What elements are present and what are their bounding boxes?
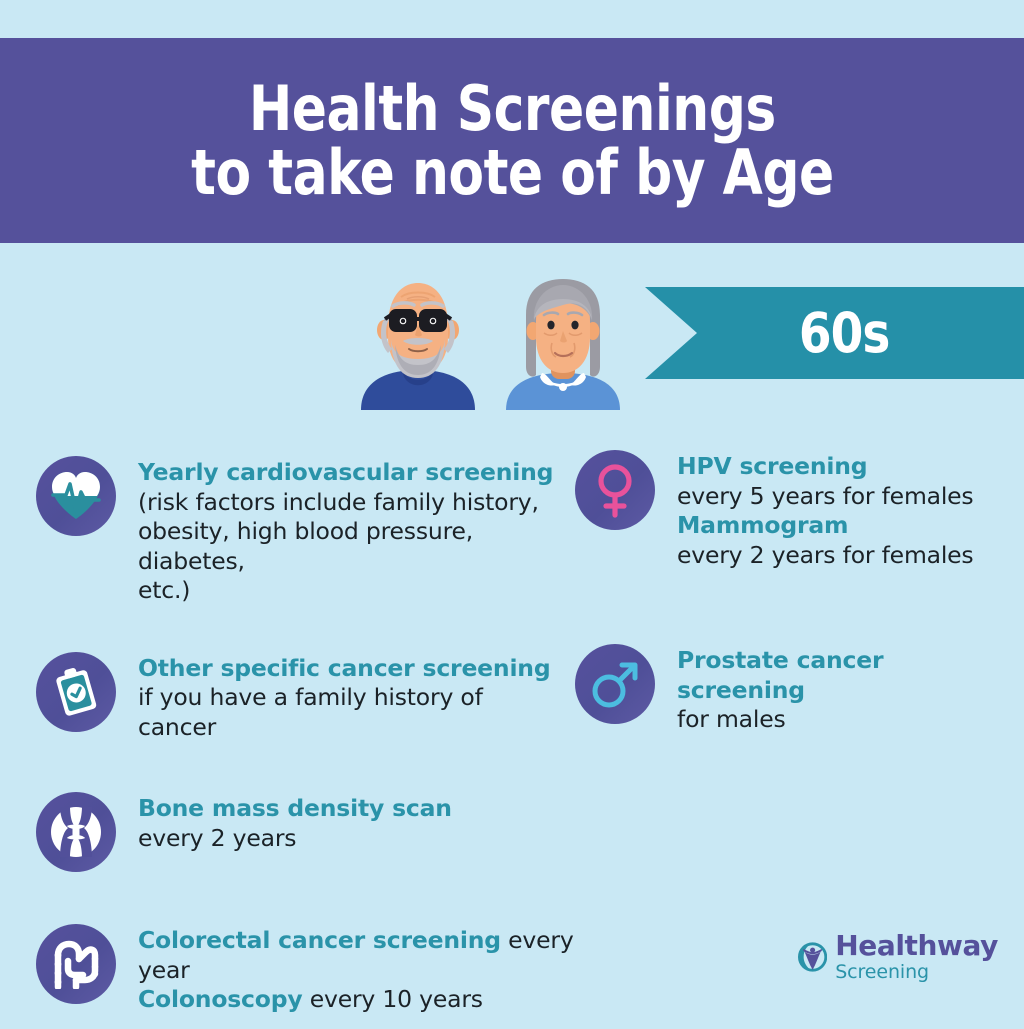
intestine-icon [36, 924, 116, 1004]
logo-subtitle: Screening [835, 963, 998, 982]
text-line: obesity, high blood pressure, diabetes, [138, 517, 576, 576]
list-item: Colorectal cancer screening every year C… [36, 924, 576, 1015]
bone-icon [36, 792, 116, 872]
text-line: Colorectal cancer screening every year [138, 926, 576, 985]
item-text: Yearly cardiovascular screening (risk fa… [116, 456, 576, 606]
text-line: Mammogram [677, 511, 1015, 541]
text-line: every 2 years for females [677, 541, 1015, 571]
text-line: etc.) [138, 576, 576, 606]
heading-text: Colonoscopy [138, 985, 302, 1013]
item-text: Colorectal cancer screening every year C… [116, 924, 576, 1015]
avatar-group [333, 275, 633, 410]
age-group-row: 60s [0, 275, 1024, 410]
text-line: Other specific cancer screening [138, 654, 576, 684]
text-line: Yearly cardiovascular screening [138, 458, 576, 488]
page-title-line-2: to take note of by Age [191, 141, 834, 204]
elderly-man-avatar [343, 275, 493, 410]
item-icon-wrapper [36, 792, 116, 872]
text-line: cancer [138, 713, 576, 743]
list-item: Bone mass density scan every 2 years [36, 792, 576, 872]
list-item: HPV screening every 5 years for females … [575, 450, 1015, 570]
heading-text: Colorectal cancer screening [138, 926, 501, 954]
text-line: every 5 years for females [677, 482, 1015, 512]
item-icon-wrapper [575, 450, 655, 530]
item-icon-wrapper [36, 652, 116, 732]
logo-text: Healthway Screening [827, 932, 998, 982]
text-line: (risk factors include family history, [138, 488, 576, 518]
header-banner: Health Screenings to take note of by Age [0, 38, 1024, 243]
healthway-person-shield-icon [798, 926, 827, 988]
text-line: Bone mass density scan [138, 794, 576, 824]
list-item: Other specific cancer screening if you h… [36, 652, 576, 743]
heading-text: Yearly cardiovascular screening [138, 458, 553, 486]
item-text: HPV screening every 5 years for females … [655, 450, 1015, 570]
trailing-text: every 10 years [302, 985, 482, 1013]
text-line: Prostate cancer screening [677, 646, 1015, 705]
screening-list-right: HPV screening every 5 years for females … [575, 450, 1015, 749]
male-symbol-icon [575, 644, 655, 724]
list-item: Prostate cancer screening for males [575, 644, 1015, 735]
age-group-banner: 60s [645, 287, 1024, 379]
list-item: Yearly cardiovascular screening (risk fa… [36, 456, 576, 606]
item-text: Other specific cancer screening if you h… [116, 652, 576, 743]
age-group-label: 60s [780, 301, 890, 365]
elderly-woman-avatar [498, 275, 628, 410]
heading-text: HPV screening [677, 452, 867, 480]
text-line: Colonoscopy every 10 years [138, 985, 576, 1015]
text-line: if you have a family history of [138, 683, 576, 713]
screening-list-left: Yearly cardiovascular screening (risk fa… [36, 450, 576, 1029]
item-text: Bone mass density scan every 2 years [116, 792, 576, 853]
heading-text: Mammogram [677, 511, 848, 539]
heartbeat-icon [36, 456, 116, 536]
text-line: every 2 years [138, 824, 576, 854]
item-icon-wrapper [36, 924, 116, 1004]
logo-name: Healthway [835, 932, 998, 960]
healthway-logo[interactable]: Healthway Screening [798, 921, 998, 993]
item-icon-wrapper [36, 456, 116, 536]
female-symbol-icon [575, 450, 655, 530]
clipboard-check-icon [36, 652, 116, 732]
page-title-line-1: Health Screenings [248, 77, 775, 140]
item-text: Prostate cancer screening for males [655, 644, 1015, 735]
heading-text: Prostate cancer screening [677, 646, 883, 704]
text-line: HPV screening [677, 452, 1015, 482]
item-icon-wrapper [575, 644, 655, 724]
heading-text: Other specific cancer screening [138, 654, 550, 682]
text-line: for males [677, 705, 1015, 735]
heading-text: Bone mass density scan [138, 794, 452, 822]
